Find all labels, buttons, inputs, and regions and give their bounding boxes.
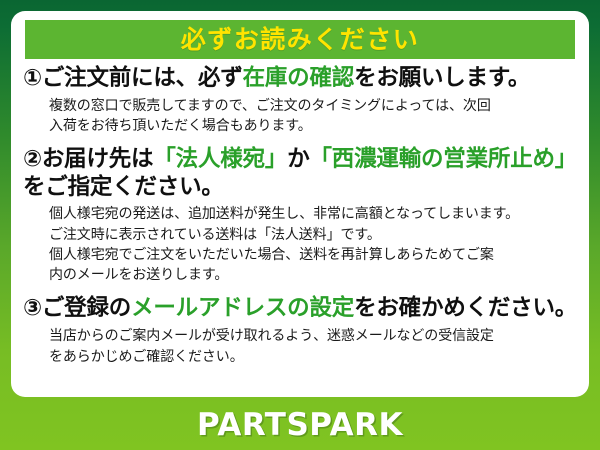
notice-item-1-detail: 複数の窓口で販売してますので、ご注文のタイミングによっては、次回 入荷をお待ち頂… bbox=[23, 96, 579, 137]
notice-item-1-highlight: 在庫の確認 bbox=[243, 65, 355, 91]
header-ribbon: 必ずお読みください bbox=[25, 20, 575, 59]
notice-item-3-marker: ③ bbox=[23, 295, 42, 321]
brand-name: PARTSPARK bbox=[197, 407, 403, 443]
notice-item-3-detail: 当店からのご案内メールが受け取れるよう、迷惑メールなどの受信設定 をあらかじめご… bbox=[23, 326, 579, 367]
footer-logo: PARTSPARK bbox=[0, 400, 600, 450]
header-title: 必ずお読みください bbox=[181, 27, 420, 52]
notice-banner: 必ずお読みください ①ご注文前には、必ず在庫の確認をお願いします。 複数の窓口で… bbox=[0, 0, 600, 450]
notice-item-3-highlight: メールアドレスの設定 bbox=[131, 295, 354, 321]
notice-item-2-highlight-b: 「西濃運輸の営業所止め」 bbox=[310, 146, 578, 172]
notice-item-2-text-b: か bbox=[287, 146, 309, 172]
notice-item-3-headline: ③ご登録のメールアドレスの設定をお確かめください。 bbox=[23, 295, 579, 323]
notice-item-2-text-a: お届け先は bbox=[42, 146, 154, 172]
notice-item-2: ②お届け先は「法人様宛」か「西濃運輸の営業所止め」をご指定ください。 個人様宅宛… bbox=[23, 146, 579, 285]
notice-item-3-text-b: をお確かめください。 bbox=[354, 295, 577, 321]
notice-item-3: ③ご登録のメールアドレスの設定をお確かめください。 当店からのご案内メールが受け… bbox=[23, 295, 579, 367]
notice-item-2-detail: 個人様宅宛の発送は、追加送料が発生し、非常に高額となってしまいます。 ご注文時に… bbox=[23, 204, 579, 285]
notice-item-1-text-b: をお願いします。 bbox=[354, 65, 530, 91]
notice-card: 必ずお読みください ①ご注文前には、必ず在庫の確認をお願いします。 複数の窓口で… bbox=[11, 11, 589, 397]
notice-item-1-marker: ① bbox=[23, 65, 42, 91]
notice-item-2-headline: ②お届け先は「法人様宛」か「西濃運輸の営業所止め」をご指定ください。 bbox=[23, 146, 579, 201]
notice-item-1: ①ご注文前には、必ず在庫の確認をお願いします。 複数の窓口で販売してますので、ご… bbox=[23, 65, 579, 136]
notice-item-1-text-a: ご注文前には、必ず bbox=[42, 65, 243, 91]
notice-item-1-headline: ①ご注文前には、必ず在庫の確認をお願いします。 bbox=[23, 65, 579, 93]
notice-item-2-highlight-a: 「法人様宛」 bbox=[153, 146, 287, 172]
notice-list: ①ご注文前には、必ず在庫の確認をお願いします。 複数の窓口で販売してますので、ご… bbox=[11, 65, 589, 367]
notice-item-2-text-c: をご指定ください。 bbox=[23, 174, 224, 200]
notice-item-2-marker: ② bbox=[23, 146, 42, 172]
notice-item-3-text-a: ご登録の bbox=[42, 295, 131, 321]
